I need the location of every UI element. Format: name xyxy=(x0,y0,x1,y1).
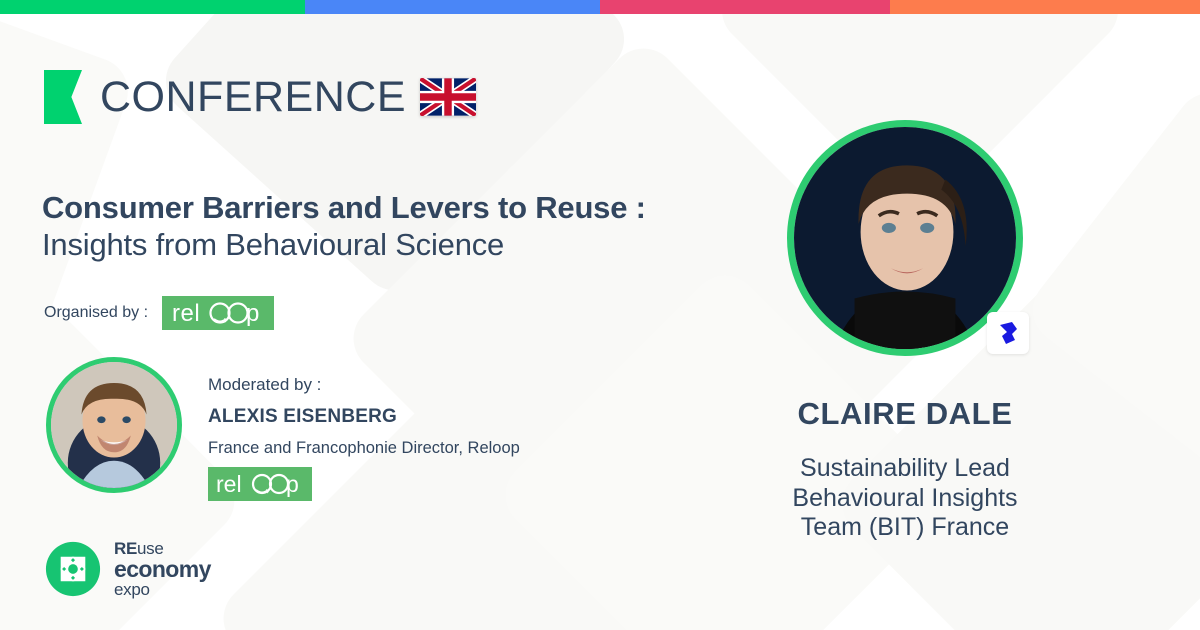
speaker-photo-wrapper xyxy=(787,120,1023,356)
topbar-segment-blue xyxy=(305,0,600,14)
moderator-headshot-image xyxy=(51,362,177,488)
svg-text:p: p xyxy=(246,300,259,327)
reuse-recycle-circle-icon xyxy=(44,540,102,598)
svg-text:rel: rel xyxy=(216,471,242,497)
svg-text:rel: rel xyxy=(172,300,200,327)
title-line-2: Insights from Behavioural Science xyxy=(42,227,742,264)
expo-line-3: expo xyxy=(114,581,211,599)
speaker-role-line-3: Team (BIT) France xyxy=(792,513,1017,543)
header-row: CONFERENCE xyxy=(44,70,476,124)
conference-kicker: CONFERENCE xyxy=(100,76,406,119)
uk-flag-icon xyxy=(420,78,476,116)
expo-wordmark: REuse economy expo xyxy=(114,540,211,599)
expo-line-2: economy xyxy=(114,558,211,582)
page-title: Consumer Barriers and Levers to Reuse : … xyxy=(42,190,742,263)
green-flag-mark-icon xyxy=(44,70,82,124)
moderator-role: France and Francophonie Director, Reloop xyxy=(208,434,520,464)
moderator-block: Moderated by : ALEXIS EISENBERG France a… xyxy=(46,357,520,501)
organised-by-label: Organised by : xyxy=(44,304,148,322)
bit-logo-badge xyxy=(987,312,1029,354)
topbar-segment-green xyxy=(0,0,305,14)
speaker-block: CLAIRE DALE Sustainability Lead Behaviou… xyxy=(680,120,1130,543)
speaker-role-line-1: Sustainability Lead xyxy=(792,454,1017,484)
reuse-economy-expo-logo: REuse economy expo xyxy=(44,540,211,599)
topbar-segment-orange xyxy=(890,0,1200,14)
topbar-segment-pink xyxy=(600,0,890,14)
reloop-logo-organiser: rel p xyxy=(162,296,274,330)
moderator-avatar xyxy=(46,357,182,493)
bit-logo-icon xyxy=(996,320,1020,346)
reloop-wordmark-icon-2: rel p xyxy=(208,467,312,501)
top-color-bar xyxy=(0,0,1200,14)
moderator-name: ALEXIS EISENBERG xyxy=(208,401,520,433)
speaker-role-line-2: Behavioural Insights xyxy=(792,484,1017,514)
speaker-name: CLAIRE DALE xyxy=(798,396,1013,432)
reloop-wordmark-icon: rel p xyxy=(162,296,274,330)
svg-text:p: p xyxy=(286,471,299,497)
expo-line-1: REuse xyxy=(114,540,211,558)
title-line-1: Consumer Barriers and Levers to Reuse : xyxy=(42,190,742,227)
moderator-text: Moderated by : ALEXIS EISENBERG France a… xyxy=(208,357,520,501)
speaker-headshot-image xyxy=(794,127,1016,349)
moderated-by-label: Moderated by : xyxy=(208,369,520,401)
speaker-role: Sustainability Lead Behavioural Insights… xyxy=(792,454,1017,543)
organised-by-row: Organised by : rel p xyxy=(44,296,274,330)
reloop-logo-moderator: rel p xyxy=(208,467,312,501)
conference-poster: CONFERENCE Consumer Barriers and Levers … xyxy=(0,0,1200,630)
